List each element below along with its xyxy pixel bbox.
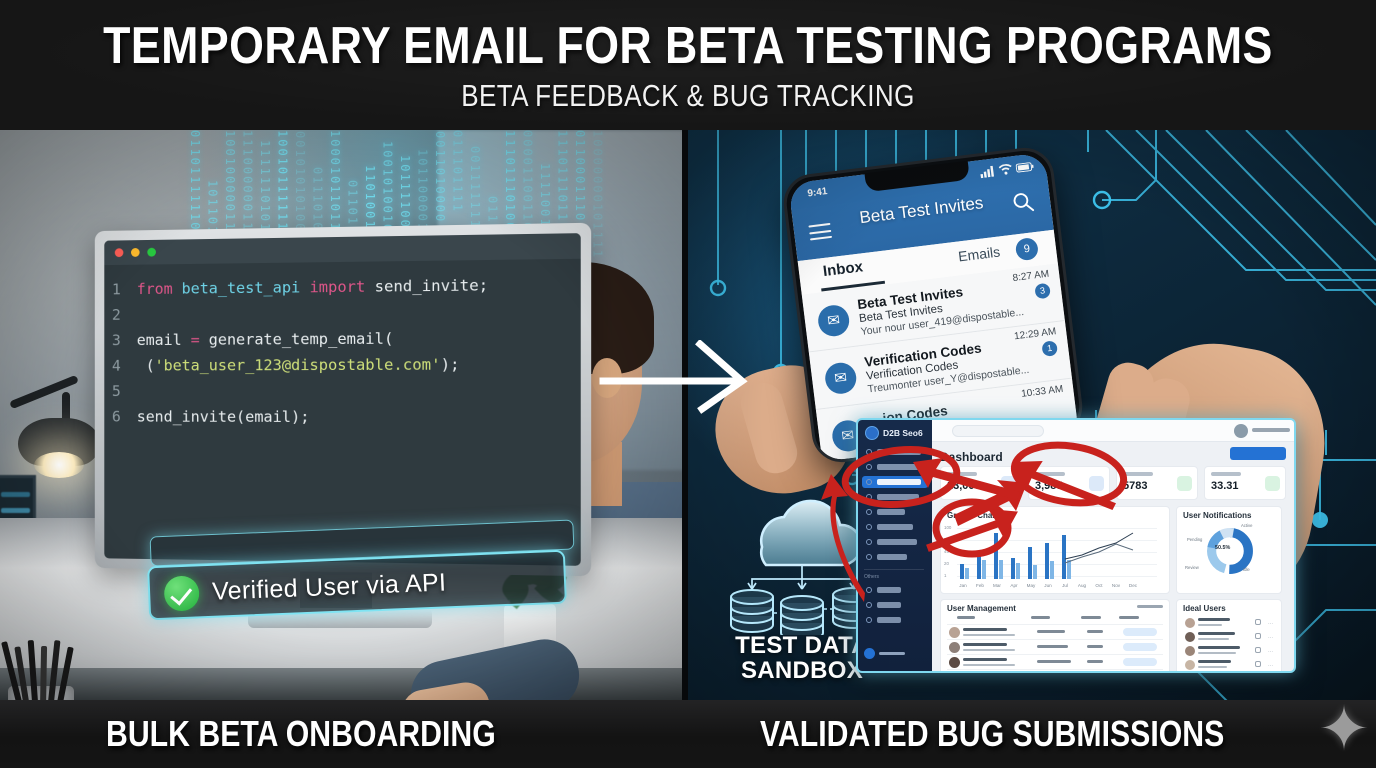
kpi-card: 33.31 xyxy=(1204,466,1286,500)
sidebar-item-profile[interactable] xyxy=(862,536,928,548)
sidebar-item-table[interactable] xyxy=(862,521,928,533)
email-cell xyxy=(1037,630,1065,633)
avatar xyxy=(1185,618,1195,628)
status-badge xyxy=(1123,658,1157,666)
sidebar-item-label xyxy=(877,524,913,530)
growth-chart-card: Growth Charts 1007545201JanFebMarAprMayJ… xyxy=(940,506,1170,594)
user-name xyxy=(1198,632,1235,635)
status-time: 9:41 xyxy=(807,186,828,199)
binary-column: 0110001110 xyxy=(571,130,586,220)
wifi-icon xyxy=(998,163,1012,176)
x-axis-tick: Feb xyxy=(972,583,988,588)
donut-center-label: 50.5% xyxy=(1215,545,1230,551)
globe-icon xyxy=(865,426,879,440)
kpi-icon xyxy=(1177,476,1192,491)
sidebar-item-integrations[interactable] xyxy=(862,551,928,563)
message-icon[interactable] xyxy=(1255,619,1261,625)
user-table-card: User Management xyxy=(940,599,1170,673)
user-meta xyxy=(1198,624,1222,626)
dashboard-topbar[interactable] xyxy=(932,420,1294,442)
page-title: TEMPORARY EMAIL FOR BETA TESTING PROGRAM… xyxy=(96,20,1279,72)
binary-column: 10000000101111 xyxy=(589,130,604,222)
sidebar-item-dashboard[interactable] xyxy=(862,446,928,458)
code-token: beta_test_api xyxy=(182,278,310,297)
email-count-badge: 3 xyxy=(1034,283,1051,300)
user-email xyxy=(963,634,1015,636)
plug-icon xyxy=(866,554,872,560)
y-axis-tick: 20 xyxy=(944,561,949,566)
sidebar-item-label xyxy=(877,602,901,608)
emails-count-badge: 9 xyxy=(1015,237,1040,262)
line-number: 6 xyxy=(112,404,137,430)
code-line: 2 xyxy=(112,298,572,328)
kpi-value: 5783 xyxy=(1123,480,1147,492)
y-axis-tick: 75 xyxy=(944,537,949,542)
verified-badge-label: Verified User via API xyxy=(212,568,447,606)
x-axis-tick: Aug xyxy=(1074,583,1090,588)
more-icon[interactable]: ··· xyxy=(1268,621,1273,627)
table-header-cell[interactable] xyxy=(957,616,975,619)
code-token: send_invite; xyxy=(375,276,489,295)
more-icon[interactable]: ··· xyxy=(1268,635,1273,641)
inbox-icon xyxy=(866,509,872,515)
dashboard-brand: D2B Seo6 xyxy=(865,426,923,440)
user-meta xyxy=(1198,666,1227,668)
email-count-badge: 1 xyxy=(1041,340,1058,357)
recent-users-title: Ideal Users xyxy=(1183,604,1226,613)
binary-column: 1110111011111 xyxy=(554,130,569,198)
growth-chart: 1007545201JanFebMarAprMayJunJulAugOctNov… xyxy=(957,525,1163,579)
code-token: ( xyxy=(137,357,155,375)
sidebar-item-label xyxy=(877,479,921,485)
sidebar-item-label xyxy=(877,617,901,623)
y-axis-tick: 45 xyxy=(944,549,949,554)
binary-column: 00101010100 xyxy=(291,130,306,234)
avatar xyxy=(1185,632,1195,642)
bars-icon xyxy=(866,587,872,593)
avatar xyxy=(864,648,875,659)
binary-column: 1110111010001011011 xyxy=(501,130,516,207)
tab-emails[interactable]: Emails xyxy=(957,243,1001,264)
avatar xyxy=(949,672,960,673)
user-name xyxy=(963,658,1007,661)
sidebar-item-label xyxy=(877,539,917,545)
sidebar-item-label xyxy=(877,494,919,500)
user-meta xyxy=(1198,638,1229,640)
dashboard-page-title: Dashboard xyxy=(940,450,1003,464)
kpi-icon xyxy=(1089,476,1104,491)
envelope-icon xyxy=(823,361,858,396)
page-subtitle: BETA FEEDBACK & BUG TRACKING xyxy=(110,80,1266,111)
code-line: 5 xyxy=(112,378,572,405)
pencil xyxy=(40,646,47,700)
grid-icon xyxy=(866,449,872,455)
list-item[interactable]: ··· xyxy=(1183,672,1275,673)
donut-legend-item: Pending xyxy=(1187,537,1202,542)
kpi-value: 33.31 xyxy=(1211,480,1239,492)
table-header-cell[interactable] xyxy=(1031,616,1050,619)
trend-lines xyxy=(957,525,1157,579)
monitor-screen: 1from beta_test_api import send_invite;2… xyxy=(104,233,580,566)
search-icon[interactable] xyxy=(1011,190,1036,215)
growth-chart-title: Growth Charts xyxy=(947,511,1003,520)
x-axis-tick: Jun xyxy=(1040,583,1056,588)
right-panel-mobile-dashboard: 9:41 xyxy=(686,130,1376,700)
check-circle-icon xyxy=(164,575,200,611)
code-token: ); xyxy=(441,355,460,373)
kpi-label xyxy=(1035,472,1065,476)
line-number: 5 xyxy=(112,378,137,403)
x-axis-tick: Jul xyxy=(1057,583,1073,588)
x-axis-tick: Mar xyxy=(989,583,1005,588)
avatar xyxy=(949,642,960,653)
left-panel-workstation: 0110111111001011011110010000011110011001… xyxy=(0,130,686,700)
code-token: from xyxy=(137,280,182,298)
kpi-icon xyxy=(1265,476,1280,491)
tab-inbox[interactable]: Inbox xyxy=(822,258,864,280)
y-axis-tick: 100 xyxy=(944,525,951,530)
brand-name: D2B Seo6 xyxy=(883,428,923,438)
kpi-icon xyxy=(1001,476,1016,491)
binary-column: 0011010000 xyxy=(431,130,446,224)
email-cell xyxy=(1037,645,1068,648)
table-header-cell[interactable] xyxy=(1119,616,1139,619)
x-axis-tick: Apr xyxy=(1006,583,1022,588)
sidebar-item-dashboard[interactable] xyxy=(862,476,928,488)
code-token: import xyxy=(310,278,375,297)
status-badge xyxy=(1123,628,1157,636)
y-axis-tick: 1 xyxy=(944,573,946,578)
kpi-card: 23,003 xyxy=(940,466,1022,500)
donut-title: User Notifications xyxy=(1183,511,1251,520)
user-name xyxy=(1198,618,1230,621)
kpi-label xyxy=(947,472,977,476)
code-editor[interactable]: 1from beta_test_api import send_invite;2… xyxy=(104,259,580,566)
x-axis-tick: Dec xyxy=(1125,583,1141,588)
envelope-icon xyxy=(816,303,851,338)
status-badge xyxy=(1123,643,1157,651)
status-cell xyxy=(1087,660,1103,663)
desk-lamp-bulb xyxy=(34,452,84,478)
sidebar-item-label xyxy=(877,449,921,455)
table-filter[interactable] xyxy=(1137,605,1163,608)
sidebar-item-settings[interactable] xyxy=(862,599,928,611)
code-line: 4 ('beta_user_123@dispostable.com'); xyxy=(112,351,572,379)
message-icon[interactable] xyxy=(1255,661,1261,667)
user-icon xyxy=(866,539,872,545)
x-axis-tick: Nov xyxy=(1108,583,1124,588)
window-close-dot[interactable] xyxy=(115,248,124,257)
avatar[interactable] xyxy=(1234,424,1248,438)
footer-banner: BULK BETA ONBOARDING VALIDATED BUG SUBMI… xyxy=(0,700,1376,768)
sidebar-item-label xyxy=(877,587,901,593)
get-now-button[interactable] xyxy=(1230,447,1286,460)
avatar xyxy=(1185,646,1195,656)
donut-legend-item: Idle xyxy=(1243,567,1250,572)
code-line: 3email = generate_temp_email( xyxy=(112,324,572,353)
layers-icon xyxy=(866,464,872,470)
donut-legend-item: Review xyxy=(1185,565,1199,570)
email-timestamp: 10:33 AM xyxy=(1021,384,1064,400)
table-header-cell[interactable] xyxy=(1081,616,1101,619)
sidebar-item-submissions[interactable] xyxy=(862,506,928,518)
poster-canvas: TEMPORARY EMAIL FOR BETA TESTING PROGRAM… xyxy=(0,0,1376,768)
kpi-label xyxy=(1211,472,1241,476)
gear-icon xyxy=(866,602,872,608)
binary-column: 10001011011111001 xyxy=(326,130,341,198)
shapes-icon xyxy=(866,494,872,500)
more-icon[interactable]: ··· xyxy=(1268,663,1273,669)
user-name xyxy=(1198,660,1231,663)
table-row[interactable] xyxy=(947,639,1163,654)
table-row[interactable] xyxy=(947,654,1163,669)
user-email xyxy=(963,649,1015,651)
sidebar-divider xyxy=(864,569,924,570)
sidebar-item-label xyxy=(877,554,907,560)
desk-edge xyxy=(0,668,686,700)
email-timestamp: 12:29 AM xyxy=(1014,326,1057,342)
footer-right-label: VALIDATED BUG SUBMISSIONS xyxy=(760,715,1224,753)
code-token: send_invite(email); xyxy=(137,408,310,426)
table-row[interactable] xyxy=(947,669,1163,673)
kpi-value: 3,985 xyxy=(1035,480,1063,492)
sidebar-section-label: Others xyxy=(864,574,879,580)
user-name xyxy=(963,643,1007,646)
recent-users-card: Ideal Users ··· ··· ··· ··· ··· xyxy=(1176,599,1282,673)
sidebar-item-settings[interactable] xyxy=(862,614,928,626)
kpi-cards: 23,003 3,985 5783 33.31 xyxy=(940,466,1286,500)
kpi-card: 3,985 xyxy=(1028,466,1110,500)
dashboard-sidebar[interactable]: D2B Seo6 Others xyxy=(858,420,932,671)
email-timestamp: 8:27 AM xyxy=(1012,269,1050,284)
sidebar-footer-user xyxy=(879,652,905,655)
user-name-label xyxy=(1252,428,1290,432)
binary-column: 00001100110010111001 xyxy=(519,130,534,209)
table-row[interactable] xyxy=(947,624,1163,639)
search-input[interactable] xyxy=(952,425,1044,437)
line-number: 1 xyxy=(112,276,137,302)
sidebar-footer[interactable] xyxy=(864,648,905,659)
binary-column: 10010111111 xyxy=(274,130,289,202)
user-table-title: User Management xyxy=(947,604,1016,613)
battery-icon xyxy=(1015,162,1034,173)
x-axis-tick: May xyxy=(1023,583,1039,588)
avatar xyxy=(949,627,960,638)
x-axis-tick: Jan xyxy=(955,583,971,588)
status-cell xyxy=(1087,645,1103,648)
analytics-dashboard[interactable]: D2B Seo6 Others Dashboard 23,003 3,985 5… xyxy=(856,418,1296,673)
kpi-card: 5783 xyxy=(1116,466,1198,500)
user-name xyxy=(1198,646,1240,649)
sparkle-icon: ✦ xyxy=(1318,704,1364,762)
binary-column: 111000000110 xyxy=(239,130,254,199)
line-number: 4 xyxy=(112,353,137,379)
line-number: 2 xyxy=(112,302,137,328)
sidebar-item-chart[interactable] xyxy=(862,584,928,596)
sidebar-item-elements[interactable] xyxy=(862,491,928,503)
sidebar-item-label xyxy=(877,509,905,515)
line-number: 3 xyxy=(112,327,137,353)
email-cell xyxy=(1037,660,1071,663)
list-item[interactable]: ··· xyxy=(1183,658,1275,673)
code-token: 'beta_user_123@dispostable.com' xyxy=(155,356,441,375)
binary-column: 011101111 xyxy=(449,130,464,191)
status-cell xyxy=(1087,630,1103,633)
user-name xyxy=(963,628,1007,631)
user-email xyxy=(963,664,1015,666)
message-icon[interactable] xyxy=(1255,633,1261,639)
code-token: email xyxy=(137,331,191,349)
message-icon[interactable] xyxy=(1255,647,1261,653)
dashboard-main: Dashboard 23,003 3,985 5783 33.31 Growth… xyxy=(932,442,1294,671)
header-banner: TEMPORARY EMAIL FOR BETA TESTING PROGRAM… xyxy=(0,0,1376,130)
sidebar-item-component[interactable] xyxy=(862,461,928,473)
binary-column: 011011111100 xyxy=(186,130,201,190)
gear-icon xyxy=(866,617,872,623)
code-token: = xyxy=(191,331,209,349)
window-minimize-dot[interactable] xyxy=(131,248,140,257)
footer-left-label: BULK BETA ONBOARDING xyxy=(106,715,496,753)
kpi-value: 23,003 xyxy=(947,480,981,492)
avatar xyxy=(1185,660,1195,670)
flow-arrow-icon xyxy=(597,340,757,420)
signal-icon xyxy=(980,166,995,179)
donut-card: User Notifications 50.5% ActivePendingRe… xyxy=(1176,506,1282,594)
chart-icon xyxy=(866,479,872,485)
more-icon[interactable]: ··· xyxy=(1268,649,1273,655)
window-maximize-dot[interactable] xyxy=(147,248,156,257)
code-token: generate_temp_email( xyxy=(209,330,394,349)
donut-legend-item: Active xyxy=(1241,523,1252,528)
kpi-label xyxy=(1123,472,1153,476)
x-axis-tick: Oct xyxy=(1091,583,1107,588)
table-icon xyxy=(866,524,872,530)
code-line: 6send_invite(email); xyxy=(112,404,572,431)
phone-screen: 9:41 xyxy=(788,152,1078,461)
user-meta xyxy=(1198,652,1236,654)
avatar xyxy=(949,657,960,668)
sidebar-item-label xyxy=(877,464,921,470)
